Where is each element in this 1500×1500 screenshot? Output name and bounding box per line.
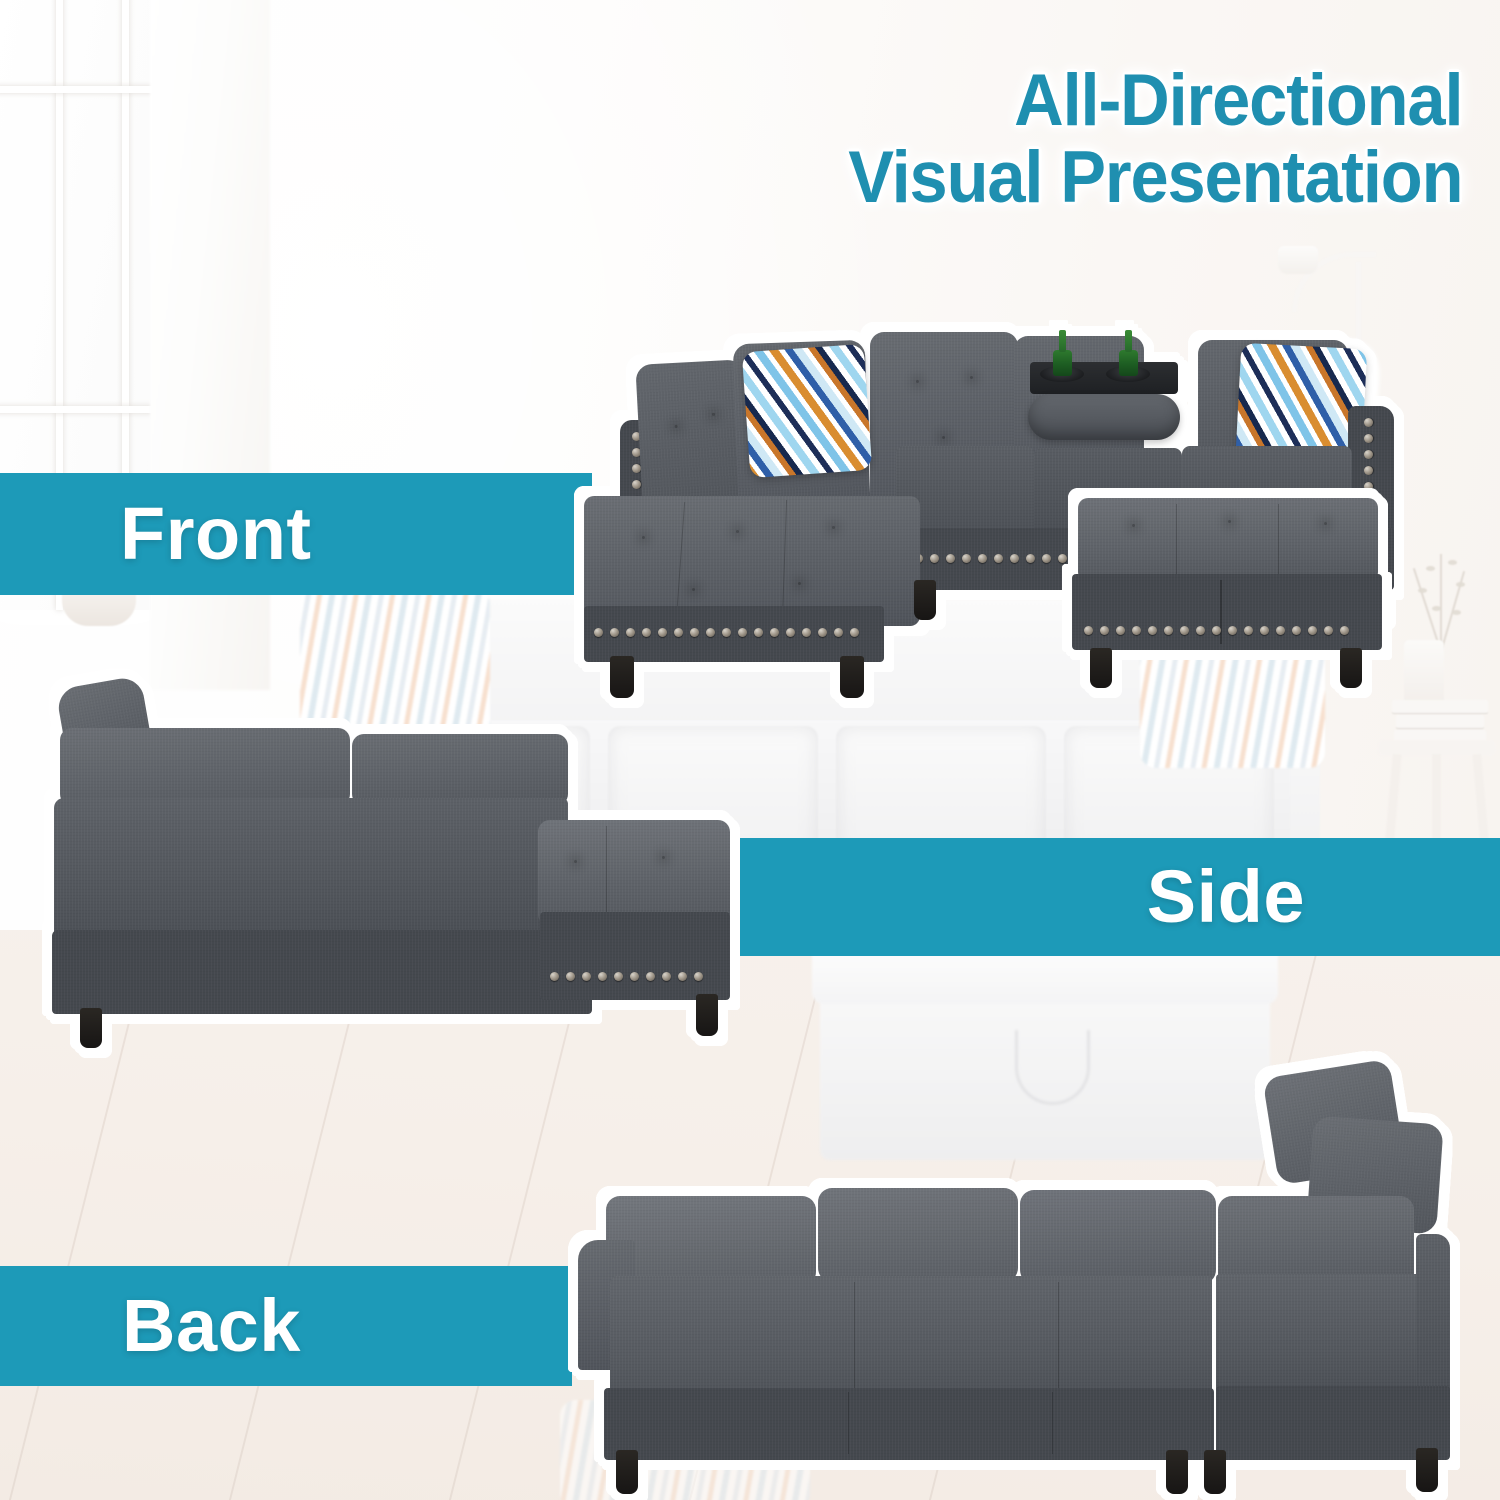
decor-vase	[1404, 640, 1444, 708]
view-label-side: Side	[1147, 860, 1305, 934]
view-label-back: Back	[122, 1289, 301, 1363]
bolster-pillow	[1028, 394, 1180, 440]
back-base-rail-left	[604, 1388, 1214, 1460]
nailhead-trim-side-chaise	[550, 972, 722, 981]
headline-line-2: Visual Presentation	[848, 139, 1462, 216]
back-view-sectional	[570, 1058, 1450, 1450]
ottoman-leg-right	[1340, 648, 1362, 688]
back-leg-4	[1416, 1448, 1438, 1492]
side-back-cushion-1	[60, 728, 350, 806]
back-base-rail-right	[1216, 1386, 1450, 1460]
view-label-banner-back: Back	[0, 1266, 572, 1386]
side-leg-right	[696, 994, 718, 1036]
back-leg-2	[1166, 1450, 1188, 1494]
view-label-banner-front: Front	[0, 473, 592, 595]
side-chaise-seat	[538, 820, 730, 926]
view-label-front: Front	[120, 497, 312, 571]
side-chaise-base	[540, 912, 730, 1000]
product-detail-image: All-Directional Visual Presentation Fron…	[0, 0, 1500, 1500]
green-bottle-right	[1119, 350, 1138, 376]
decor-books	[1392, 700, 1488, 742]
ottoman-top	[1078, 498, 1378, 582]
ottoman-leg-left	[1090, 648, 1112, 688]
striped-accent-pillow-left	[742, 344, 872, 478]
back-panel-right	[1216, 1274, 1432, 1398]
side-leg-left	[80, 1008, 102, 1048]
front-leg-corner	[914, 580, 936, 620]
back-right-arm	[1416, 1234, 1450, 1398]
back-panel-left	[610, 1276, 1212, 1398]
nailhead-trim-ottoman	[1084, 626, 1370, 635]
side-view-sectional	[46, 672, 746, 1040]
side-back-panel	[54, 798, 568, 938]
back-leg-1	[616, 1450, 638, 1494]
decor-stems	[1396, 552, 1486, 652]
nailhead-trim-chaise-base	[594, 628, 876, 637]
headline: All-Directional Visual Presentation	[809, 62, 1462, 217]
floor-lamp-shade	[1278, 246, 1318, 274]
side-back-cushion-2	[352, 734, 568, 806]
front-view-storage-ottoman	[1068, 498, 1388, 688]
back-cushion-1	[606, 1196, 816, 1286]
side-base-rail	[52, 930, 592, 1014]
front-leg-chaise-right	[840, 656, 864, 698]
back-leg-3	[1204, 1450, 1226, 1494]
view-label-banner-side: Side	[628, 838, 1500, 956]
back-cushion-2	[818, 1188, 1018, 1282]
headline-line-1: All-Directional	[848, 62, 1462, 139]
ottoman-body	[1072, 574, 1382, 650]
green-bottle-left	[1053, 350, 1072, 376]
back-cushion-3	[1020, 1190, 1216, 1284]
